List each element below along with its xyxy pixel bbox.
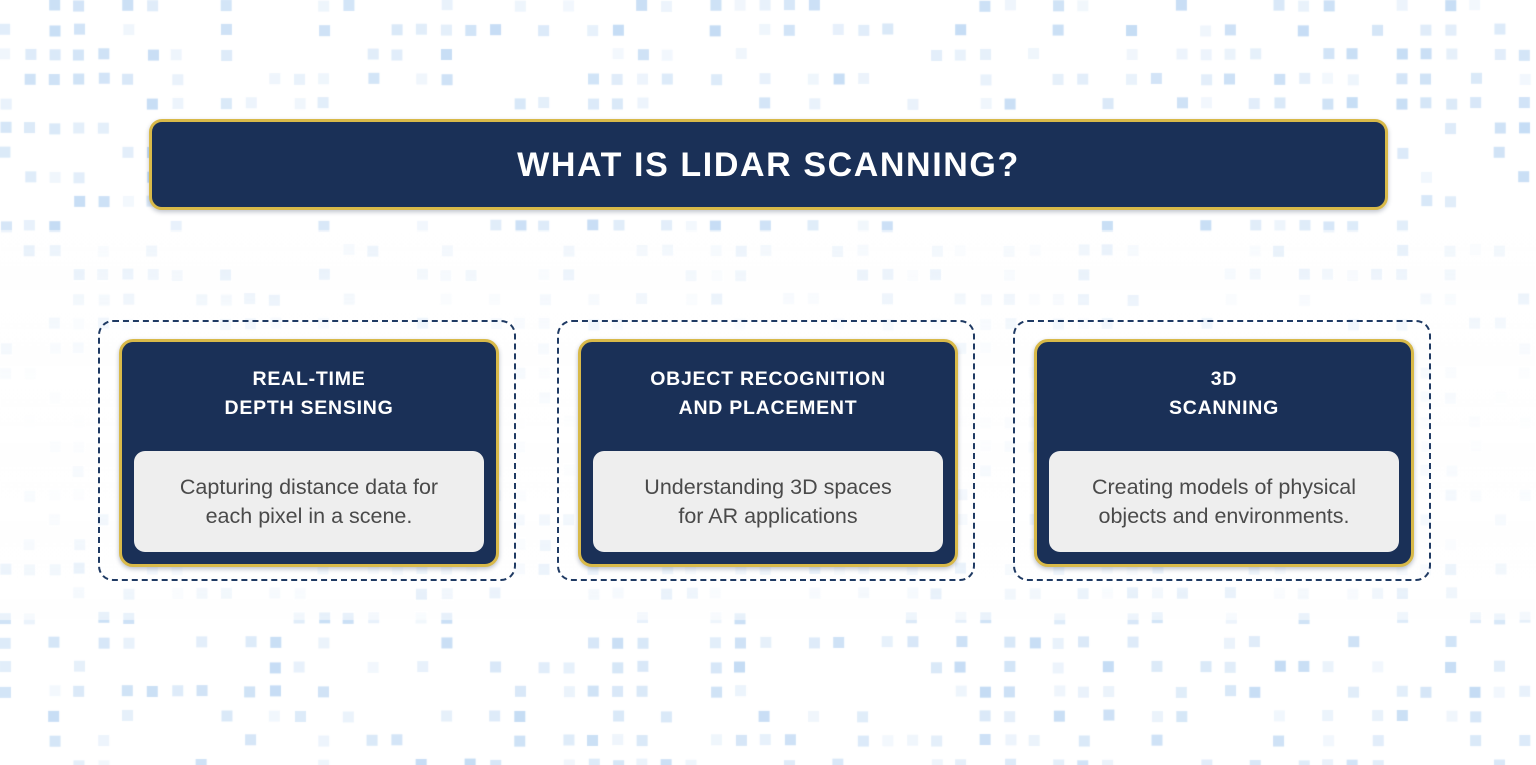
card-heading: REAL-TIME DEPTH SENSING <box>224 365 393 424</box>
cards-row: REAL-TIME DEPTH SENSING Capturing distan… <box>0 320 1536 582</box>
card-outline-object-recognition-and-placement: OBJECT RECOGNITION AND PLACEMENT Underst… <box>557 320 975 581</box>
card-outline-real-time-depth-sensing: REAL-TIME DEPTH SENSING Capturing distan… <box>98 320 516 581</box>
card-object-recognition-and-placement[interactable]: OBJECT RECOGNITION AND PLACEMENT Underst… <box>578 339 958 567</box>
card-3d-scanning[interactable]: 3D SCANNING Creating models of physical … <box>1034 339 1414 567</box>
slide-stage: WHAT IS LIDAR SCANNING? REAL-TIME DEPTH … <box>0 0 1536 765</box>
card-heading: OBJECT RECOGNITION AND PLACEMENT <box>650 365 886 424</box>
card-outline-3d-scanning: 3D SCANNING Creating models of physical … <box>1013 320 1431 581</box>
card-body-text: Understanding 3D spaces for AR applicati… <box>634 473 901 530</box>
card-body-text: Creating models of physical objects and … <box>1082 473 1366 530</box>
title-banner: WHAT IS LIDAR SCANNING? <box>149 119 1388 210</box>
card-body-panel: Creating models of physical objects and … <box>1049 451 1399 552</box>
card-body-panel: Understanding 3D spaces for AR applicati… <box>593 451 943 552</box>
page-title: WHAT IS LIDAR SCANNING? <box>517 148 1020 182</box>
card-body-panel: Capturing distance data for each pixel i… <box>134 451 484 552</box>
card-real-time-depth-sensing[interactable]: REAL-TIME DEPTH SENSING Capturing distan… <box>119 339 499 567</box>
card-heading: 3D SCANNING <box>1169 365 1279 424</box>
card-body-text: Capturing distance data for each pixel i… <box>170 473 448 530</box>
